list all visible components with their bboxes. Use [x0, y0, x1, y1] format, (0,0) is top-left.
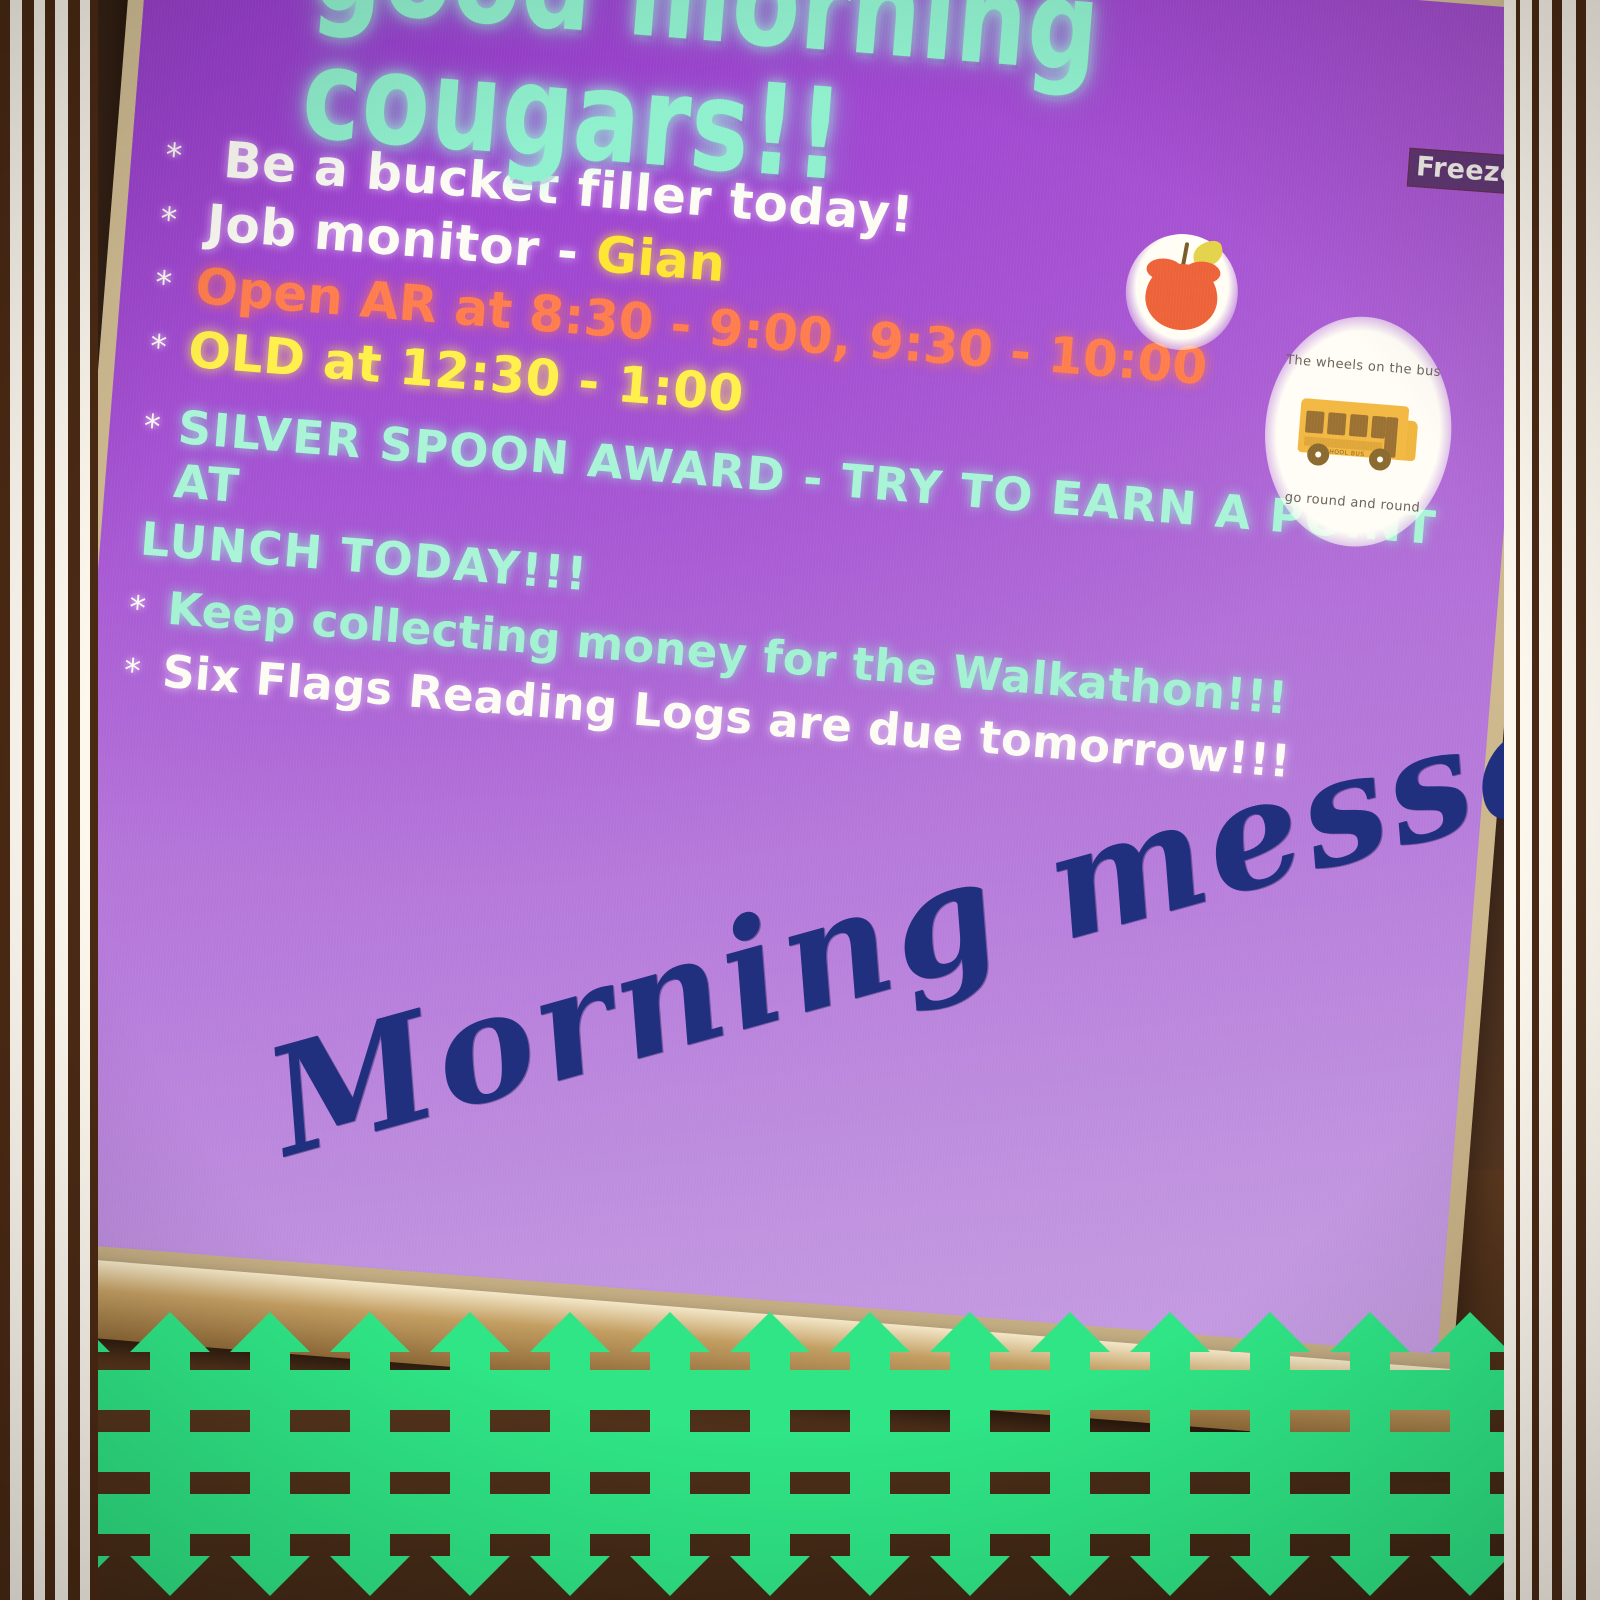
bus-wheel-icon — [1368, 448, 1392, 472]
bus-window-icon — [1349, 414, 1369, 437]
asterisk-icon: * — [128, 591, 147, 625]
asterisk-icon: * — [159, 202, 178, 236]
job-monitor-name: Gian — [594, 225, 728, 293]
asterisk-icon: * — [164, 138, 183, 172]
bus-wheel-icon — [1306, 443, 1330, 467]
asterisk-icon: * — [154, 266, 173, 300]
projected-screen[interactable]: good morning cougars!! * Be a bucket fil… — [44, 0, 1546, 1354]
slide-content: good morning cougars!! * Be a bucket fil… — [44, 0, 1546, 1354]
bus-top-caption: The wheels on the bus — [1270, 351, 1457, 381]
asterisk-icon: * — [149, 330, 168, 364]
smartboard[interactable]: good morning cougars!! * Be a bucket fil… — [23, 0, 1562, 1413]
bus-window-icon — [1305, 410, 1325, 433]
asterisk-icon: * — [123, 654, 142, 688]
bus-graphic: SCHOOL BUS — [1297, 390, 1420, 471]
asterisk-icon: * — [142, 409, 161, 443]
apple-body-icon — [1143, 261, 1220, 333]
bus-window-icon — [1327, 412, 1347, 435]
screenshot-root: SMART Board good morning cougars!! * Be … — [0, 0, 1600, 1600]
